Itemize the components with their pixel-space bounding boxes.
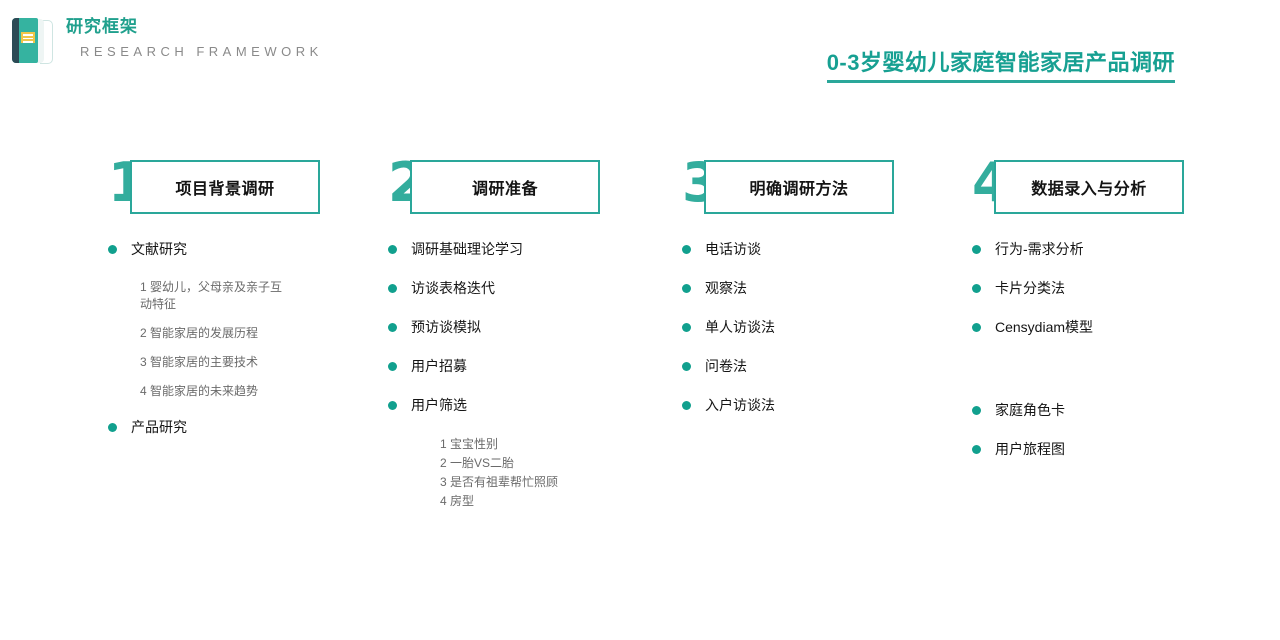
list-item-label: 访谈表格迭代 [411, 279, 495, 297]
list-item[interactable]: Censydiam模型 [972, 318, 1252, 336]
column-item-list: 电话访谈观察法单人访谈法问卷法入户访谈法 [682, 240, 962, 414]
framework-columns: 1项目背景调研文献研究1 婴幼儿，父母亲及亲子互动特征2 智能家居的发展历程3 … [0, 160, 1280, 620]
bullet-icon [682, 362, 691, 371]
book-spine [12, 18, 19, 63]
list-item-label: 家庭角色卡 [995, 401, 1065, 419]
list-item-label: 问卷法 [705, 357, 747, 375]
brand-title-en: RESEARCH FRAMEWORK [80, 44, 323, 59]
sub-list-item: 4 房型 [440, 492, 668, 510]
column-header: 3明确调研方法 [682, 160, 962, 218]
page-title-wrap: 0-3岁婴幼儿家庭智能家居产品调研 [827, 50, 1175, 83]
sub-list-item: 2 智能家居的发展历程 [140, 325, 290, 342]
column-header: 2调研准备 [388, 160, 668, 218]
bullet-icon [388, 245, 397, 254]
sub-list-item: 1 婴幼儿，父母亲及亲子互动特征 [140, 279, 290, 313]
list-item[interactable]: 预访谈模拟 [388, 318, 668, 336]
list-item[interactable]: 单人访谈法 [682, 318, 962, 336]
bullet-icon [972, 406, 981, 415]
sub-list-item: 3 智能家居的主要技术 [140, 354, 290, 371]
column-title: 数据录入与分析 [1031, 175, 1147, 199]
list-item[interactable]: 用户招募 [388, 357, 668, 375]
list-item[interactable]: 卡片分类法 [972, 279, 1252, 297]
bullet-icon [682, 284, 691, 293]
column-item-list: 行为-需求分析卡片分类法Censydiam模型家庭角色卡用户旅程图 [972, 240, 1252, 458]
column-title-box[interactable]: 调研准备 [410, 160, 600, 214]
list-item-label: 文献研究 [131, 240, 187, 258]
list-item-label: 产品研究 [131, 418, 187, 436]
list-item[interactable]: 产品研究 [108, 418, 388, 436]
column-title: 调研准备 [472, 175, 538, 199]
page-header: 研究框架 RESEARCH FRAMEWORK 0-3岁婴幼儿家庭智能家居产品调… [0, 0, 1280, 110]
list-item-label: 入户访谈法 [705, 396, 775, 414]
list-item[interactable]: 家庭角色卡 [972, 401, 1252, 419]
column-title-box[interactable]: 明确调研方法 [704, 160, 894, 214]
bullet-icon [388, 362, 397, 371]
bullet-icon [682, 323, 691, 332]
column-title-box[interactable]: 数据录入与分析 [994, 160, 1184, 214]
bullet-icon [388, 284, 397, 293]
list-item-label: 单人访谈法 [705, 318, 775, 336]
list-item[interactable]: 用户筛选 [388, 396, 668, 414]
list-item-label: 行为-需求分析 [995, 240, 1084, 258]
column-item-list: 调研基础理论学习访谈表格迭代预访谈模拟用户招募用户筛选1 宝宝性别2 一胎VS二… [388, 240, 668, 510]
list-item-label: 调研基础理论学习 [411, 240, 523, 258]
list-item-label: Censydiam模型 [995, 318, 1093, 336]
framework-column-3: 3明确调研方法电话访谈观察法单人访谈法问卷法入户访谈法 [682, 160, 962, 435]
bullet-icon [972, 323, 981, 332]
bullet-icon [388, 323, 397, 332]
column-title: 明确调研方法 [749, 175, 848, 199]
bullet-icon [108, 423, 117, 432]
bullet-icon [682, 401, 691, 410]
column-header: 1项目背景调研 [108, 160, 388, 218]
bullet-icon [972, 245, 981, 254]
list-item[interactable]: 问卷法 [682, 357, 962, 375]
sub-list-item: 2 一胎VS二胎 [440, 454, 668, 472]
brand-block: 研究框架 RESEARCH FRAMEWORK [10, 16, 323, 64]
list-item[interactable]: 访谈表格迭代 [388, 279, 668, 297]
list-item-label: 电话访谈 [705, 240, 761, 258]
list-item-label: 预访谈模拟 [411, 318, 481, 336]
column-title: 项目背景调研 [175, 175, 274, 199]
column-title-box[interactable]: 项目背景调研 [130, 160, 320, 214]
list-item[interactable]: 行为-需求分析 [972, 240, 1252, 258]
bullet-icon [108, 245, 117, 254]
list-item-label: 用户招募 [411, 357, 467, 375]
sub-list-item: 4 智能家居的未来趋势 [140, 383, 290, 400]
list-item[interactable]: 调研基础理论学习 [388, 240, 668, 258]
bullet-icon [972, 445, 981, 454]
sub-item-list: 1 宝宝性别2 一胎VS二胎3 是否有祖辈帮忙照顾4 房型 [440, 435, 668, 510]
sub-list-item: 3 是否有祖辈帮忙照顾 [440, 473, 668, 491]
brand-text: 研究框架 RESEARCH FRAMEWORK [66, 16, 323, 59]
list-spacer [972, 357, 1252, 401]
list-item[interactable]: 观察法 [682, 279, 962, 297]
framework-column-4: 4数据录入与分析行为-需求分析卡片分类法Censydiam模型家庭角色卡用户旅程… [972, 160, 1252, 479]
list-item[interactable]: 文献研究 [108, 240, 388, 258]
framework-column-1: 1项目背景调研文献研究1 婴幼儿，父母亲及亲子互动特征2 智能家居的发展历程3 … [108, 160, 388, 457]
list-item-label: 用户旅程图 [995, 440, 1065, 458]
column-item-list: 文献研究1 婴幼儿，父母亲及亲子互动特征2 智能家居的发展历程3 智能家居的主要… [108, 240, 388, 436]
sub-list-item: 1 宝宝性别 [440, 435, 668, 453]
framework-column-2: 2调研准备调研基础理论学习访谈表格迭代预访谈模拟用户招募用户筛选1 宝宝性别2 … [388, 160, 668, 528]
column-header: 4数据录入与分析 [972, 160, 1252, 218]
brand-title-cn: 研究框架 [66, 16, 323, 38]
bullet-icon [682, 245, 691, 254]
list-item[interactable]: 电话访谈 [682, 240, 962, 258]
list-item-label: 卡片分类法 [995, 279, 1065, 297]
bullet-icon [972, 284, 981, 293]
list-item-label: 用户筛选 [411, 396, 467, 414]
page-title-underline [827, 80, 1175, 83]
page-title: 0-3岁婴幼儿家庭智能家居产品调研 [827, 50, 1175, 76]
bullet-icon [388, 401, 397, 410]
list-item[interactable]: 入户访谈法 [682, 396, 962, 414]
book-label [21, 32, 35, 43]
list-item-label: 观察法 [705, 279, 747, 297]
book-icon [10, 18, 54, 64]
list-item[interactable]: 用户旅程图 [972, 440, 1252, 458]
sub-item-list: 1 婴幼儿，父母亲及亲子互动特征2 智能家居的发展历程3 智能家居的主要技术4 … [140, 279, 388, 400]
